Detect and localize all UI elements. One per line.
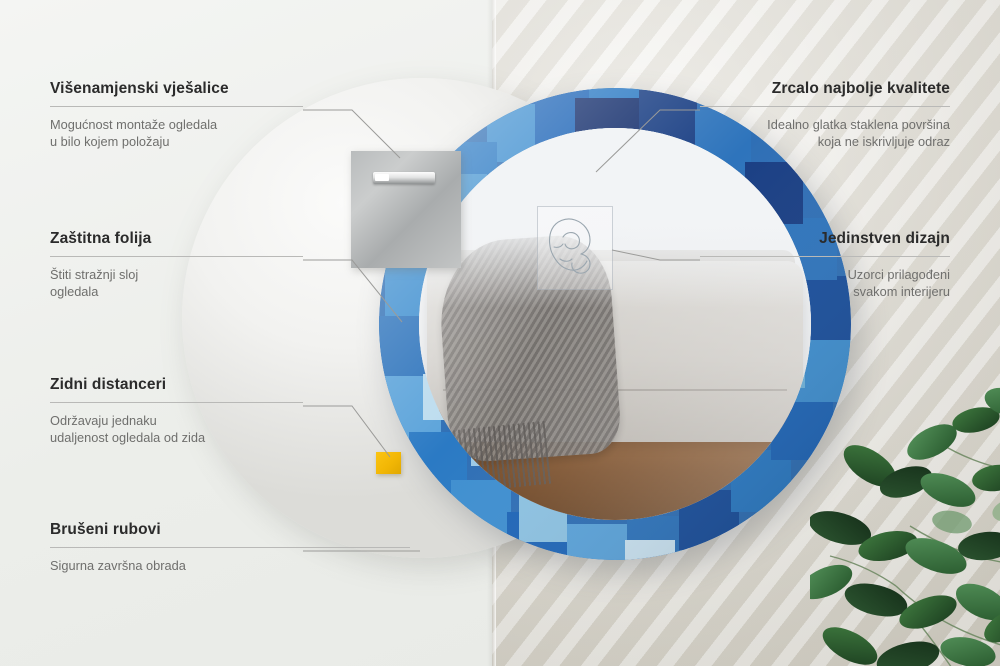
callout-bruseni-rubovi: Brušeni rubovi Sigurna završna obrada bbox=[50, 521, 410, 574]
callout-desc-line2: koja ne iskrivljuje odraz bbox=[700, 133, 950, 150]
callout-zrcalo-najbolje-kvalitete: Zrcalo najbolje kvalitete Idealno glatka… bbox=[700, 80, 950, 150]
callout-desc-line2: svakom interijeru bbox=[700, 283, 950, 300]
face-line-art-icon bbox=[538, 207, 610, 287]
callout-jedinstven-dizajn: Jedinstven dizajn Uzorci prilagođeni sva… bbox=[700, 230, 950, 300]
callout-desc-line1: Uzorci prilagođeni bbox=[700, 266, 950, 283]
yellow-wall-spacer bbox=[376, 452, 401, 474]
callout-title: Zaštitna folija bbox=[50, 230, 303, 248]
foliage-decoration bbox=[810, 350, 1000, 666]
callout-desc-line2: ogledala bbox=[50, 283, 303, 300]
callout-rule bbox=[50, 547, 410, 548]
metal-hanger-plate bbox=[351, 151, 461, 268]
callout-desc-line1: Održavaju jednaku bbox=[50, 412, 303, 429]
callout-title: Višenamjenski vješalice bbox=[50, 80, 303, 98]
callout-desc-line2: u bilo kojem položaju bbox=[50, 133, 303, 150]
callout-title: Brušeni rubovi bbox=[50, 521, 410, 539]
callout-zidni-distanceri: Zidni distanceri Održavaju jednaku udalj… bbox=[50, 376, 303, 446]
callout-rule bbox=[700, 256, 950, 257]
callout-rule bbox=[50, 256, 303, 257]
callout-title: Jedinstven dizajn bbox=[700, 230, 950, 248]
callout-title: Zidni distanceri bbox=[50, 376, 303, 394]
etched-logo-frame bbox=[537, 206, 613, 290]
hanger-slot bbox=[373, 172, 435, 184]
callout-desc-line1: Sigurna završna obrada bbox=[50, 557, 410, 574]
callout-zastitna-folija: Zaštitna folija Štiti stražnji sloj ogle… bbox=[50, 230, 303, 300]
callout-rule bbox=[50, 106, 303, 107]
callout-desc-line1: Idealno glatka staklena površina bbox=[700, 116, 950, 133]
callout-desc-line2: udaljenost ogledala od zida bbox=[50, 429, 303, 446]
callout-title: Zrcalo najbolje kvalitete bbox=[700, 80, 950, 98]
callout-visenamjenski-vjesalice: Višenamjenski vješalice Mogućnost montaž… bbox=[50, 80, 303, 150]
callout-desc-line1: Štiti stražnji sloj bbox=[50, 266, 303, 283]
infographic-canvas: Višenamjenski vješalice Mogućnost montaž… bbox=[0, 0, 1000, 666]
mirror-glass bbox=[419, 128, 811, 520]
callout-desc-line1: Mogućnost montaže ogledala bbox=[50, 116, 303, 133]
callout-rule bbox=[50, 402, 303, 403]
callout-rule bbox=[700, 106, 950, 107]
